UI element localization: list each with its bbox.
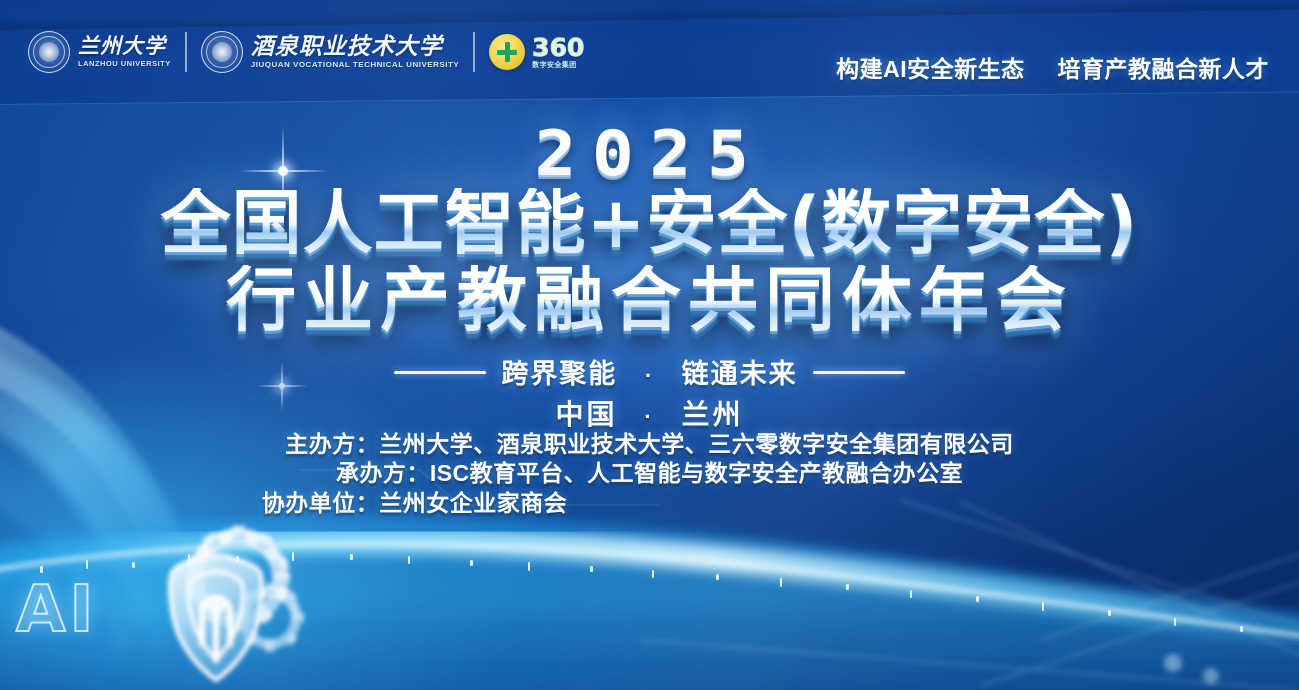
place-dot: ·: [644, 404, 654, 430]
subslogan-left: 跨界聚能: [501, 359, 617, 389]
360-plus-badge-icon: [489, 34, 525, 70]
poster-title: 全国人工智能+安全(数字安全) 行业产教融合共同体年会: [0, 188, 1299, 337]
header-slogan-left: 构建AI安全新生态: [836, 56, 1025, 82]
shield-gear-emblem-icon: [118, 512, 328, 690]
poster-subslogan: 跨界聚能 · 链通未来: [0, 352, 1299, 391]
subslogan-dot: ·: [645, 363, 654, 389]
subslogan-dash-left: [394, 371, 486, 374]
place-city: 兰州: [681, 399, 743, 430]
jiuquan-university-seal-icon: [201, 31, 243, 73]
organizer-line-coorganizer: 协办单位：兰州女企业家商会: [0, 489, 1064, 518]
poster-place: 中国 · 兰州: [0, 393, 1299, 433]
logo-lanzhou-en: LANZHOU UNIVERSITY: [78, 61, 171, 68]
poster-title-line1: 全国人工智能+安全(数字安全): [0, 188, 1299, 259]
conference-backdrop-photo: 兰州大学 LANZHOU UNIVERSITY 酒泉职业技术大学 JIUQUAN…: [0, 0, 1299, 690]
place-country: 中国: [556, 399, 618, 430]
ai-label: AI: [16, 573, 97, 647]
organizer-line-host: 主办方：兰州大学、酒泉职业技术大学、三六零数字安全集团有限公司: [0, 430, 1299, 459]
header-slogan: 构建AI安全新生态 培育产教融合新人才: [836, 50, 1269, 84]
organizer-block: 主办方：兰州大学、酒泉职业技术大学、三六零数字安全集团有限公司 承办方：ISC教…: [0, 430, 1299, 518]
subslogan-right: 链通未来: [682, 359, 798, 389]
logo-lanzhou-cn: 兰州大学: [78, 36, 171, 57]
header-slogan-right: 培育产教融合新人才: [1058, 56, 1270, 82]
logo-jiuquan-en: JIUQUAN VOCATIONAL TECHNICAL UNIVERSITY: [251, 61, 459, 68]
logo-jiuquan-cn: 酒泉职业技术大学: [251, 35, 459, 58]
logo-360-name: 360: [532, 35, 584, 60]
poster-year: 2025: [0, 117, 1299, 190]
organizer-line-organizer: 承办方：ISC教育平台、人工智能与数字安全产教融合办公室: [0, 459, 1299, 488]
logo-360-sub: 数字安全集团: [532, 62, 584, 69]
logo-360-digital-security: 360 数字安全集团: [475, 34, 598, 70]
poster-title-line2: 行业产教融合共同体年会: [0, 265, 1299, 336]
lanzhou-university-seal-icon: [28, 31, 70, 73]
logo-lanzhou-university: 兰州大学 LANZHOU UNIVERSITY: [14, 31, 185, 73]
partner-logo-row: 兰州大学 LANZHOU UNIVERSITY 酒泉职业技术大学 JIUQUAN…: [14, 24, 598, 80]
logo-jiuquan-university: 酒泉职业技术大学 JIUQUAN VOCATIONAL TECHNICAL UN…: [187, 31, 473, 73]
subslogan-dash-right: [813, 371, 905, 374]
